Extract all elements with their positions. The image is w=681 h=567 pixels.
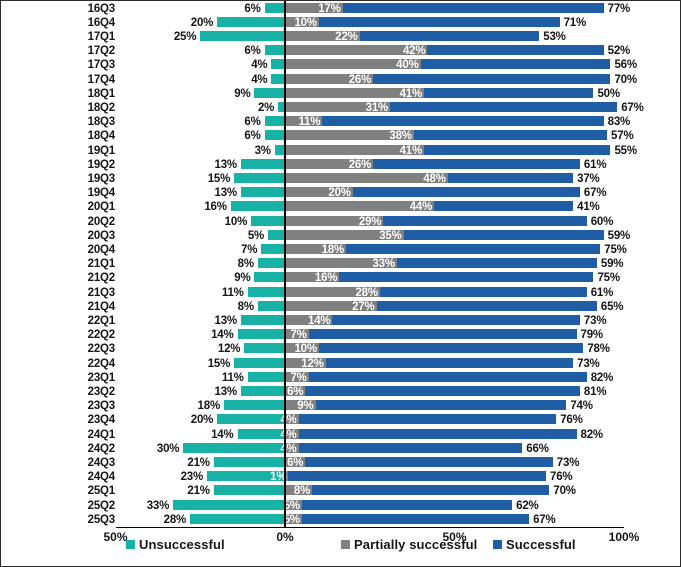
chart-row: 20Q47%18%75% [1, 243, 681, 257]
value-label-unsuccessful: 33% [99, 500, 169, 512]
category-label: 18Q3 [59, 116, 115, 128]
legend-item[interactable]: Successful [493, 537, 576, 552]
chart-row: 17Q34%40%56% [1, 58, 681, 72]
category-label: 22Q4 [59, 358, 115, 370]
chart-row: 18Q46%38%57% [1, 129, 681, 143]
value-label-unsuccessful: 16% [157, 201, 227, 213]
value-label-unsuccessful: 23% [133, 471, 203, 483]
value-label-successful: 67% [533, 514, 555, 526]
value-label-successful: 73% [557, 457, 579, 469]
category-label: 23Q1 [59, 372, 115, 384]
value-label-successful: 74% [570, 400, 592, 412]
value-label-partially-successful: 27% [311, 301, 375, 313]
value-label-unsuccessful: 4% [197, 59, 267, 71]
legend-swatch-icon [493, 540, 502, 549]
bar-unsuccessful [271, 74, 285, 84]
value-label-successful: 73% [577, 358, 599, 370]
bar-successful [312, 485, 549, 495]
chart-legend: UnsuccessfulPartially successfulSuccessf… [1, 537, 681, 557]
category-label: 25Q3 [59, 514, 115, 526]
value-label-unsuccessful: 11% [174, 287, 244, 299]
value-label-partially-successful: 28% [314, 287, 378, 299]
bar-successful [302, 514, 529, 524]
value-label-unsuccessful: 9% [180, 272, 250, 284]
bar-unsuccessful [234, 173, 285, 183]
category-label: 18Q2 [59, 102, 115, 114]
bar-successful [322, 116, 603, 126]
bar-successful [302, 500, 512, 510]
legend-label: Unsuccessful [139, 537, 225, 552]
value-label-partially-successful: 4% [233, 414, 297, 426]
chart-row: 16Q420%10%71% [1, 16, 681, 30]
value-label-unsuccessful: 11% [174, 372, 244, 384]
bar-successful [424, 88, 594, 98]
value-label-partially-successful: 26% [307, 74, 371, 86]
bar-successful [380, 287, 587, 297]
bar-successful [383, 216, 586, 226]
bar-successful [305, 386, 580, 396]
value-label-successful: 75% [597, 272, 619, 284]
bar-successful [434, 201, 573, 211]
bar-successful [288, 471, 546, 481]
value-label-successful: 66% [526, 443, 548, 455]
category-label: 17Q2 [59, 45, 115, 57]
chart-row: 16Q36%17%77% [1, 2, 681, 16]
bar-unsuccessful [265, 45, 285, 55]
value-label-unsuccessful: 13% [167, 159, 237, 171]
category-label: 24Q1 [59, 429, 115, 441]
category-label: 21Q3 [59, 287, 115, 299]
bar-successful [319, 17, 560, 27]
chart-row: 24Q230%4%66% [1, 442, 681, 456]
chart-row: 22Q113%14%73% [1, 314, 681, 328]
value-label-successful: 55% [614, 145, 636, 157]
value-label-partially-successful: 29% [317, 216, 381, 228]
value-label-successful: 59% [608, 230, 630, 242]
bar-successful [346, 244, 600, 254]
value-label-successful: 61% [584, 159, 606, 171]
legend-swatch-icon [126, 540, 135, 549]
chart-row: 19Q413%20%67% [1, 186, 681, 200]
category-label: 20Q1 [59, 201, 115, 213]
value-label-unsuccessful: 8% [184, 258, 254, 270]
value-label-partially-successful: 33% [331, 258, 395, 270]
value-label-unsuccessful: 28% [116, 514, 186, 526]
chart-row: 23Q111%7%82% [1, 371, 681, 385]
value-label-partially-successful: 31% [324, 102, 388, 114]
bar-successful [373, 74, 610, 84]
bar-unsuccessful [200, 31, 285, 41]
value-label-unsuccessful: 4% [197, 74, 267, 86]
chart-row: 21Q48%27%65% [1, 300, 681, 314]
value-label-successful: 70% [553, 485, 575, 497]
bar-successful [339, 272, 593, 282]
bar-successful [326, 358, 573, 368]
value-label-partially-successful: 26% [307, 159, 371, 171]
value-label-successful: 67% [584, 187, 606, 199]
value-label-successful: 65% [601, 301, 623, 313]
value-label-successful: 61% [591, 287, 613, 299]
bar-successful [377, 301, 597, 311]
value-label-successful: 62% [516, 500, 538, 512]
bar-successful [424, 145, 610, 155]
chart-row: 21Q18%33%59% [1, 257, 681, 271]
value-label-successful: 60% [591, 216, 613, 228]
bar-unsuccessful [265, 130, 285, 140]
value-label-partially-successful: 22% [294, 31, 358, 43]
chart-row: 22Q415%12%73% [1, 357, 681, 371]
value-label-successful: 57% [611, 130, 633, 142]
value-label-successful: 76% [560, 414, 582, 426]
bar-successful [448, 173, 573, 183]
value-label-successful: 41% [577, 201, 599, 213]
value-label-partially-successful: 48% [382, 173, 446, 185]
value-label-unsuccessful: 13% [167, 187, 237, 199]
value-label-unsuccessful: 21% [140, 485, 210, 497]
value-label-partially-successful: 11% [256, 116, 320, 128]
bar-successful [343, 3, 604, 13]
value-label-unsuccessful: 20% [143, 414, 213, 426]
value-label-unsuccessful: 21% [140, 457, 210, 469]
chart-row: 17Q26%42%52% [1, 44, 681, 58]
value-label-partially-successful: 38% [348, 130, 412, 142]
chart-row: 24Q321%6%73% [1, 456, 681, 470]
value-label-successful: 59% [601, 258, 623, 270]
value-label-unsuccessful: 9% [180, 88, 250, 100]
value-label-unsuccessful: 12% [170, 343, 240, 355]
bar-unsuccessful [248, 287, 285, 297]
value-label-successful: 70% [614, 74, 636, 86]
category-label: 24Q4 [59, 471, 115, 483]
bar-successful [299, 429, 577, 439]
value-label-successful: 78% [587, 343, 609, 355]
bar-successful [305, 457, 552, 467]
value-label-partially-successful: 17% [277, 3, 341, 15]
chart-row: 24Q423%1%76% [1, 470, 681, 484]
value-label-partially-successful: 9% [250, 400, 314, 412]
category-label: 23Q3 [59, 400, 115, 412]
legend-item[interactable]: Partially successful [341, 537, 477, 552]
category-label: 22Q2 [59, 329, 115, 341]
category-label: 17Q1 [59, 31, 115, 43]
category-label: 17Q4 [59, 74, 115, 86]
bar-successful [404, 230, 604, 240]
value-label-unsuccessful: 20% [143, 17, 213, 29]
chart-row: 18Q36%11%83% [1, 115, 681, 129]
chart-row: 20Q116%44%41% [1, 200, 681, 214]
bar-successful [373, 159, 580, 169]
value-label-partially-successful: 18% [280, 244, 344, 256]
value-label-partially-successful: 40% [355, 59, 419, 71]
value-label-successful: 75% [604, 244, 626, 256]
bar-unsuccessful [258, 258, 285, 268]
bar-unsuccessful [258, 301, 285, 311]
chart-row: 24Q114%4%82% [1, 428, 681, 442]
chart-container: 16Q36%17%77%16Q420%10%71%17Q125%22%53%17… [0, 0, 681, 567]
bar-successful [309, 372, 587, 382]
category-label: 19Q2 [59, 159, 115, 171]
category-label: 21Q4 [59, 301, 115, 313]
chart-row: 19Q315%48%37% [1, 172, 681, 186]
category-label: 19Q1 [59, 145, 115, 157]
bar-successful [421, 59, 611, 69]
category-label: 16Q4 [59, 17, 115, 29]
category-label: 20Q4 [59, 244, 115, 256]
category-label: 22Q3 [59, 343, 115, 355]
value-label-successful: 73% [584, 315, 606, 327]
value-label-successful: 67% [621, 102, 643, 114]
value-label-unsuccessful: 13% [167, 315, 237, 327]
chart-row: 17Q44%26%70% [1, 73, 681, 87]
category-label: 23Q4 [59, 414, 115, 426]
value-label-partially-successful: 8% [246, 485, 310, 497]
bar-unsuccessful [271, 59, 285, 69]
value-label-unsuccessful: 6% [191, 130, 261, 142]
category-label: 23Q2 [59, 386, 115, 398]
value-label-unsuccessful: 15% [160, 173, 230, 185]
bar-unsuccessful [251, 216, 285, 226]
value-label-unsuccessful: 6% [191, 116, 261, 128]
chart-row: 23Q213%6%81% [1, 385, 681, 399]
chart-row: 18Q22%31%67% [1, 101, 681, 115]
value-label-partially-successful: 7% [243, 372, 307, 384]
value-label-partially-successful: 4% [233, 443, 297, 455]
value-label-unsuccessful: 15% [160, 358, 230, 370]
bar-successful [427, 45, 603, 55]
chart-row: 18Q19%41%50% [1, 87, 681, 101]
value-label-unsuccessful: 25% [126, 31, 196, 43]
value-label-successful: 81% [584, 386, 606, 398]
value-label-successful: 77% [608, 3, 630, 15]
bar-successful [390, 102, 617, 112]
value-label-partially-successful: 6% [239, 457, 303, 469]
value-label-successful: 50% [597, 88, 619, 100]
category-label: 25Q1 [59, 485, 115, 497]
category-label: 24Q2 [59, 443, 115, 455]
chart-row: 22Q312%10%78% [1, 342, 681, 356]
category-label: 19Q4 [59, 187, 115, 199]
value-label-partially-successful: 44% [368, 201, 432, 213]
value-label-successful: 83% [608, 116, 630, 128]
chart-row: 21Q29%16%75% [1, 271, 681, 285]
legend-label: Successful [506, 537, 576, 552]
bar-successful [316, 400, 567, 410]
value-label-successful: 37% [577, 173, 599, 185]
value-label-unsuccessful: 14% [164, 329, 234, 341]
value-label-successful: 71% [564, 17, 586, 29]
value-label-unsuccessful: 14% [164, 429, 234, 441]
value-label-partially-successful: 41% [358, 145, 422, 157]
value-label-unsuccessful: 6% [191, 3, 261, 15]
category-label: 18Q1 [59, 88, 115, 100]
value-label-unsuccessful: 18% [150, 400, 220, 412]
value-label-unsuccessful: 13% [167, 386, 237, 398]
legend-swatch-icon [341, 540, 350, 549]
plot-area: 16Q36%17%77%16Q420%10%71%17Q125%22%53%17… [1, 1, 681, 532]
category-label: 20Q2 [59, 216, 115, 228]
category-label: 21Q1 [59, 258, 115, 270]
value-label-unsuccessful: 30% [109, 443, 179, 455]
category-label: 22Q1 [59, 315, 115, 327]
bar-unsuccessful [241, 187, 285, 197]
value-label-partially-successful: 6% [239, 386, 303, 398]
value-label-unsuccessful: 6% [191, 45, 261, 57]
category-label: 20Q3 [59, 230, 115, 242]
value-label-successful: 79% [581, 329, 603, 341]
bar-successful [319, 343, 583, 353]
chart-row: 22Q214%7%79% [1, 328, 681, 342]
legend-item[interactable]: Unsuccessful [126, 537, 225, 552]
category-label: 21Q2 [59, 272, 115, 284]
value-label-unsuccessful: 2% [204, 102, 274, 114]
category-label: 19Q3 [59, 173, 115, 185]
category-label: 24Q3 [59, 457, 115, 469]
chart-row: 21Q311%28%61% [1, 286, 681, 300]
bar-successful [299, 414, 557, 424]
category-label: 17Q3 [59, 59, 115, 71]
bar-unsuccessful [254, 88, 285, 98]
value-label-partially-successful: 4% [233, 429, 297, 441]
value-label-partially-successful: 16% [273, 272, 337, 284]
value-label-unsuccessful: 8% [184, 301, 254, 313]
value-label-successful: 76% [550, 471, 572, 483]
chart-row: 25Q328%5%67% [1, 513, 681, 527]
value-label-partially-successful: 41% [358, 88, 422, 100]
value-label-partially-successful: 35% [338, 230, 402, 242]
bar-unsuccessful [241, 159, 285, 169]
value-label-successful: 82% [581, 429, 603, 441]
x-axis-line [116, 527, 625, 529]
chart-row: 19Q213%26%61% [1, 158, 681, 172]
zero-axis-line [284, 1, 285, 527]
bar-successful [414, 130, 607, 140]
category-label: 16Q3 [59, 3, 115, 15]
value-label-partially-successful: 42% [361, 45, 425, 57]
value-label-partially-successful: 5% [236, 514, 300, 526]
value-label-unsuccessful: 3% [201, 145, 271, 157]
bar-successful [332, 315, 579, 325]
bar-successful [309, 329, 577, 339]
legend-label: Partially successful [354, 537, 477, 552]
value-label-partially-successful: 14% [266, 315, 330, 327]
bar-successful [360, 31, 540, 41]
value-label-partially-successful: 1% [222, 471, 286, 483]
value-label-successful: 53% [543, 31, 565, 43]
value-label-unsuccessful: 7% [187, 244, 257, 256]
chart-row: 23Q420%4%76% [1, 413, 681, 427]
bar-successful [397, 258, 597, 268]
value-label-unsuccessful: 5% [194, 230, 264, 242]
chart-row: 23Q318%9%74% [1, 399, 681, 413]
chart-row: 19Q13%41%55% [1, 144, 681, 158]
value-label-partially-successful: 20% [287, 187, 351, 199]
value-label-partially-successful: 12% [260, 358, 324, 370]
chart-row: 25Q121%8%70% [1, 484, 681, 498]
value-label-partially-successful: 7% [243, 329, 307, 341]
category-label: 18Q4 [59, 130, 115, 142]
bar-unsuccessful [231, 201, 285, 211]
bar-successful [353, 187, 580, 197]
value-label-unsuccessful: 10% [177, 216, 247, 228]
chart-row: 25Q233%5%62% [1, 499, 681, 513]
value-label-successful: 56% [614, 59, 636, 71]
value-label-partially-successful: 5% [236, 500, 300, 512]
bar-successful [299, 443, 523, 453]
bar-unsuccessful [268, 230, 285, 240]
chart-row: 17Q125%22%53% [1, 30, 681, 44]
value-label-successful: 82% [591, 372, 613, 384]
value-label-successful: 52% [608, 45, 630, 57]
chart-row: 20Q35%35%59% [1, 229, 681, 243]
chart-row: 20Q210%29%60% [1, 215, 681, 229]
